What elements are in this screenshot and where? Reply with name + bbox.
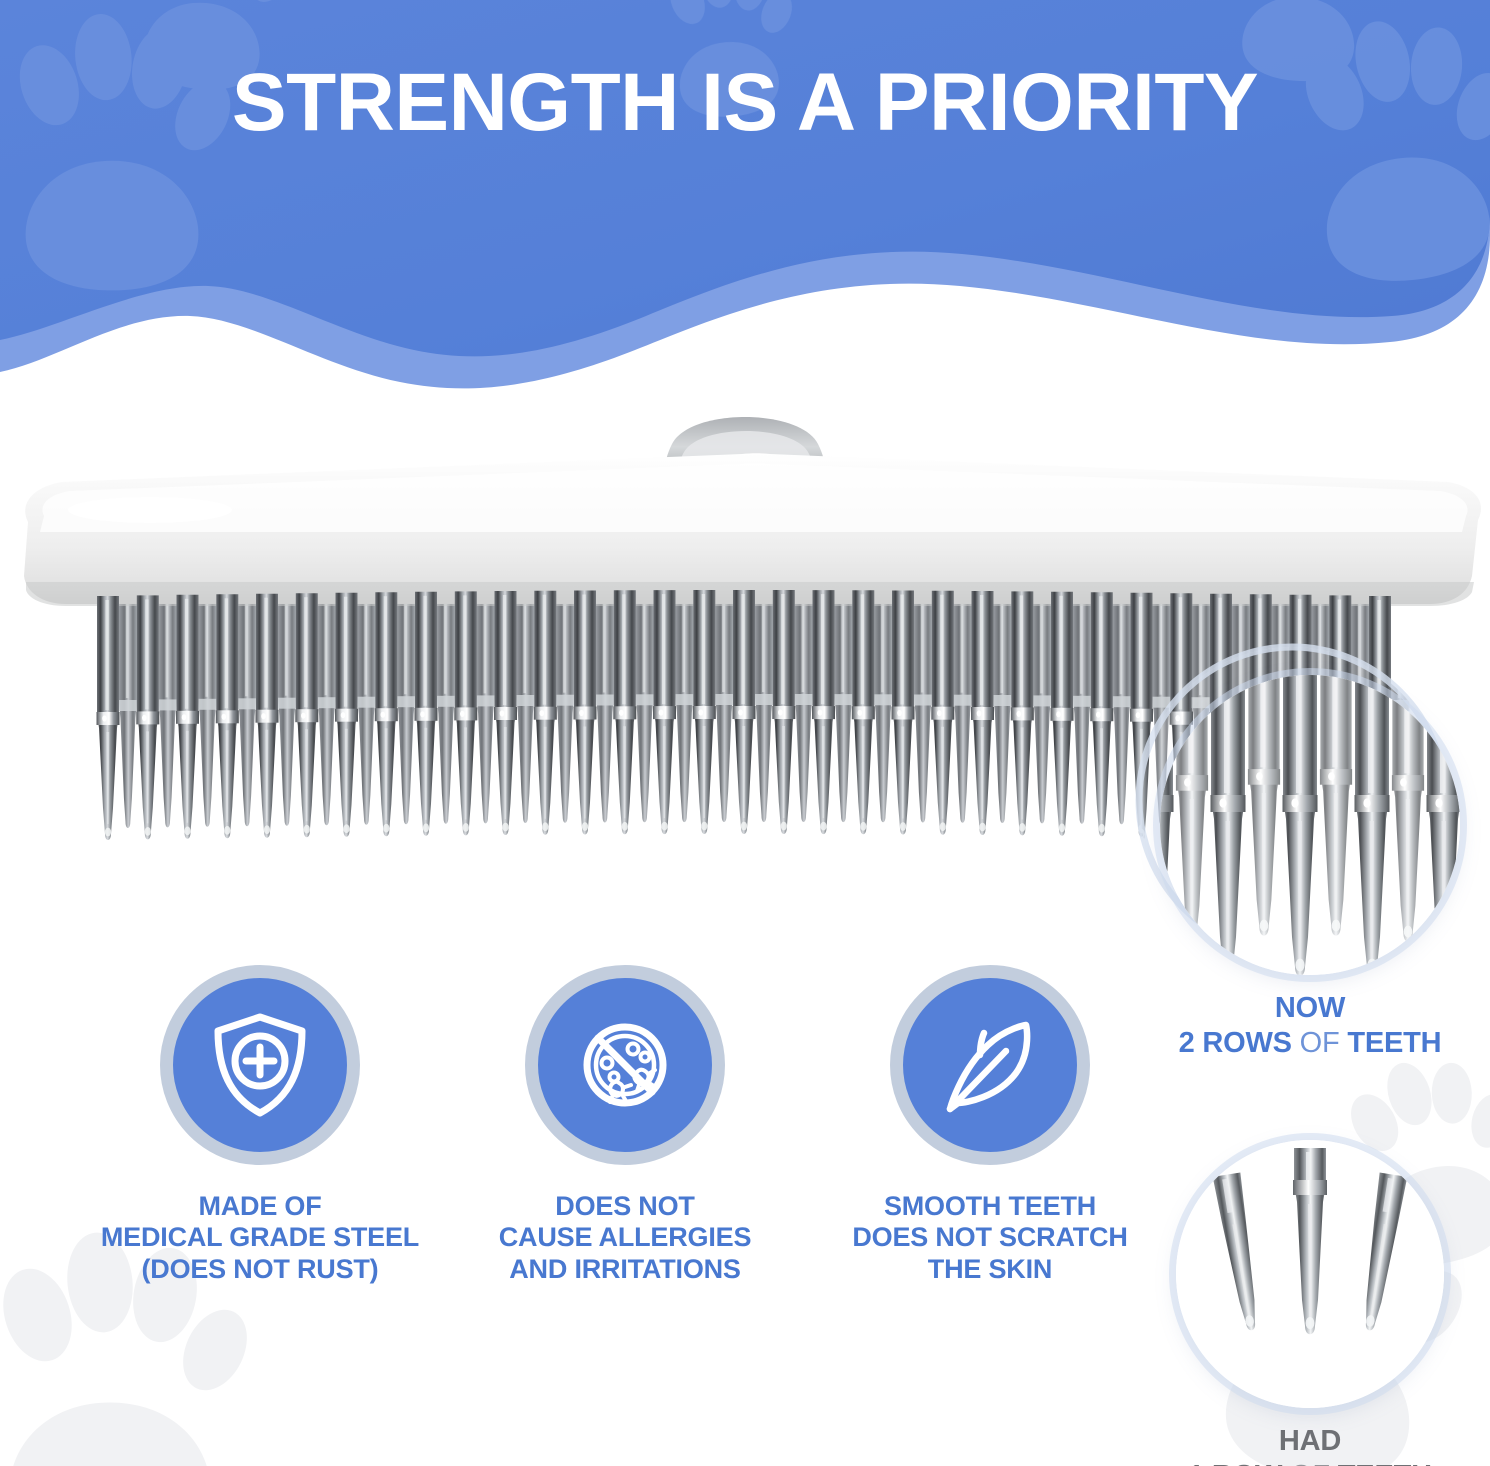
- lens-now-two-rows: [1160, 675, 1460, 975]
- feature-label-allergies: DOES NOT CAUSE ALLERGIES AND IRRITATIONS: [499, 1191, 752, 1285]
- feature-item-smooth[interactable]: SMOOTH TEETH DOES NOT SCRATCH THE SKIN: [825, 965, 1155, 1285]
- infographic-root: STRENGTH IS A PRIORITY: [0, 0, 1490, 1466]
- callout-now-line1: NOW: [1140, 991, 1480, 1026]
- feature-item-steel[interactable]: MADE OF MEDICAL GRADE STEEL (DOES NOT RU…: [95, 965, 425, 1285]
- callout-now-rows: 2 ROWS: [1179, 1027, 1292, 1059]
- callout-had-text: HAD 1 ROW OF TEETH: [1140, 1424, 1480, 1466]
- callout-had-rows: 1 ROW: [1188, 1460, 1282, 1466]
- feather-icon: [936, 1011, 1044, 1119]
- callout-now-line2: 2 ROWS OF TEETH: [1140, 1026, 1480, 1061]
- callout-had-teeth: TEETH: [1338, 1460, 1432, 1466]
- callout-now-teeth: TEETH: [1347, 1027, 1441, 1059]
- no-germs-icon: [573, 1013, 677, 1117]
- callout-now-of: OF: [1292, 1027, 1348, 1059]
- feature-item-allergies[interactable]: DOES NOT CAUSE ALLERGIES AND IRRITATIONS: [460, 965, 790, 1285]
- comb-body: [24, 417, 1481, 606]
- lens-had-svg: [1176, 1140, 1444, 1408]
- feature-list: MADE OF MEDICAL GRADE STEEL (DOES NOT RU…: [95, 965, 1155, 1305]
- shield-plus-icon: [208, 1009, 312, 1121]
- callout-had-of: OF: [1282, 1460, 1338, 1466]
- page-title: STRENGTH IS A PRIORITY: [0, 62, 1490, 144]
- feature-icon-circle: [525, 965, 725, 1165]
- feature-label-steel: MADE OF MEDICAL GRADE STEEL (DOES NOT RU…: [101, 1191, 419, 1285]
- callout-had-line2: 1 ROW OF TEETH: [1140, 1459, 1480, 1466]
- callout-now-text: NOW 2 ROWS OF TEETH: [1140, 991, 1480, 1061]
- lens-now-svg: [1160, 675, 1460, 975]
- callout-had-line1: HAD: [1140, 1424, 1480, 1459]
- callout-had: HAD 1 ROW OF TEETH: [1140, 1140, 1480, 1466]
- lens-had-one-row: [1176, 1140, 1444, 1408]
- callout-now: NOW 2 ROWS OF TEETH: [1140, 675, 1480, 1061]
- feature-icon-circle: [160, 965, 360, 1165]
- feature-icon-circle: [890, 965, 1090, 1165]
- feature-label-smooth: SMOOTH TEETH DOES NOT SCRATCH THE SKIN: [852, 1191, 1127, 1285]
